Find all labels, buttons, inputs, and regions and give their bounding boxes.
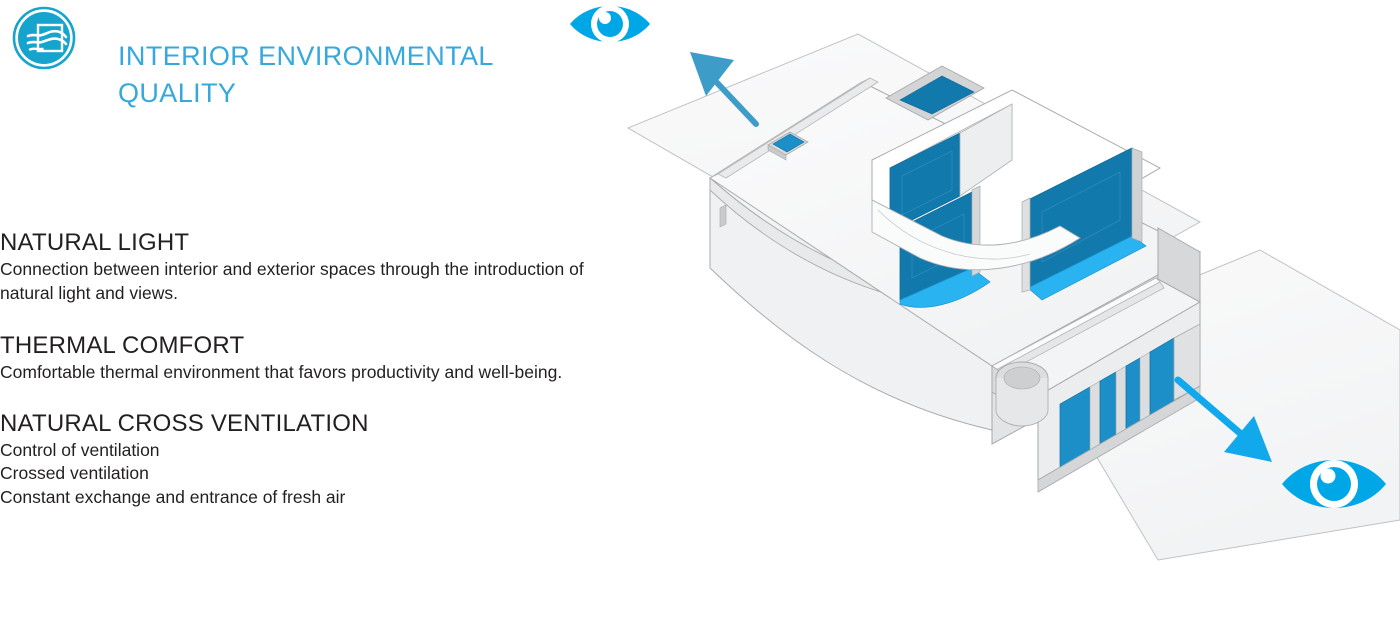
section-body: Connection between interior and exterior… (0, 258, 615, 305)
section-line: Crossed ventilation (0, 462, 625, 486)
page-title: INTERIOR ENVIRONMENTAL QUALITY (118, 38, 598, 112)
section-natural-cross-ventilation: NATURAL CROSS VENTILATION Control of ven… (0, 409, 625, 510)
view-direction-eye-upper (570, 5, 650, 43)
cylinder-column (996, 362, 1048, 426)
header: INTERIOR ENVIRONMENTAL QUALITY (0, 0, 620, 130)
interior-environmental-quality-icon (8, 6, 80, 74)
section-line: Control of ventilation (0, 439, 625, 463)
section-heading: NATURAL CROSS VENTILATION (0, 409, 625, 438)
section-line: Constant exchange and entrance of fresh … (0, 486, 625, 510)
section-heading: NATURAL LIGHT (0, 228, 625, 257)
section-heading: THERMAL COMFORT (0, 331, 625, 360)
criteria-list: NATURAL LIGHT Connection between interio… (0, 228, 625, 509)
section-thermal-comfort: THERMAL COMFORT Comfortable thermal envi… (0, 331, 625, 385)
section-natural-light: NATURAL LIGHT Connection between interio… (0, 228, 625, 305)
page-root: INTERIOR ENVIRONMENTAL QUALITY NATURAL L… (0, 0, 1400, 634)
axonometric-building-diagram (560, 0, 1400, 634)
section-body: Comfortable thermal environment that fav… (0, 361, 615, 385)
